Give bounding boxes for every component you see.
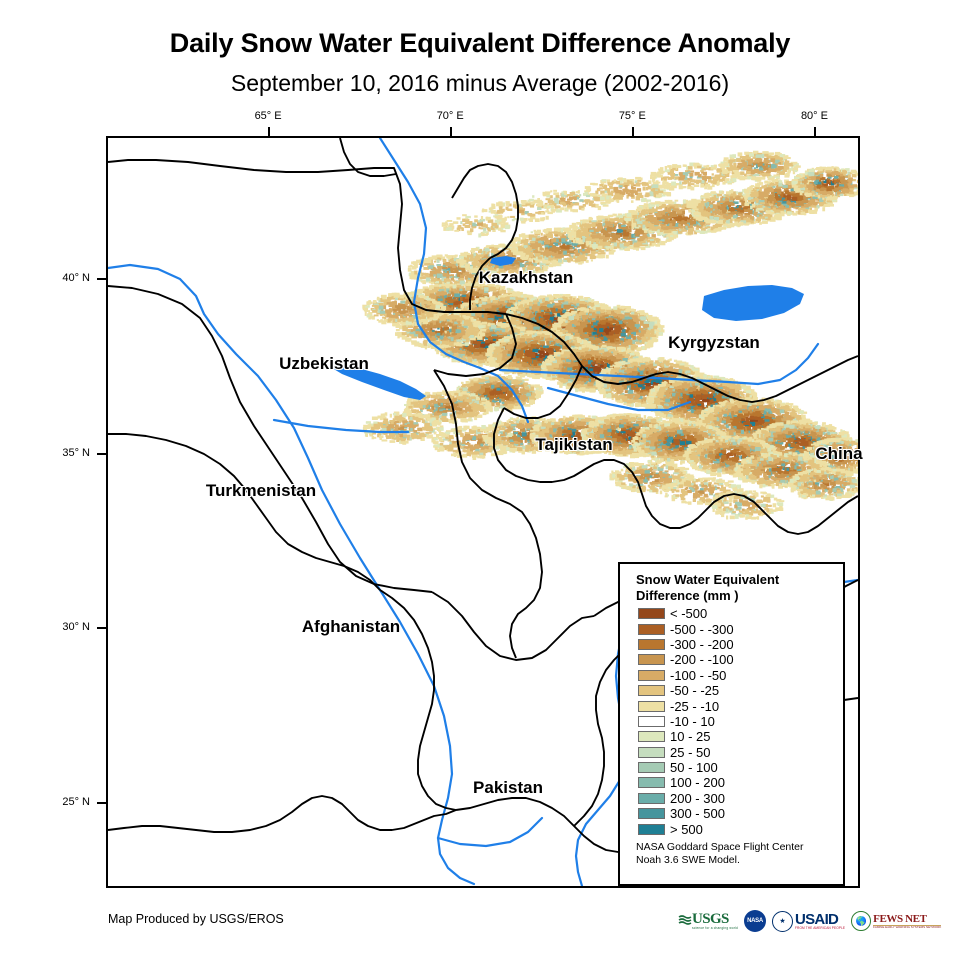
page-subtitle: September 10, 2016 minus Average (2002-2… xyxy=(0,70,960,97)
legend-label: 10 - 25 xyxy=(670,730,710,743)
legend-swatch xyxy=(638,762,665,773)
legend-item: 300 - 500 xyxy=(638,806,734,821)
legend-item: -10 - 10 xyxy=(638,714,734,729)
lat-tick-label: 30° N xyxy=(62,621,90,633)
legend-swatch xyxy=(638,608,665,619)
legend-item: 25 - 50 xyxy=(638,745,734,760)
legend-label: > 500 xyxy=(670,823,703,836)
legend-swatch xyxy=(638,777,665,788)
legend-swatch xyxy=(638,731,665,742)
fews-logo-tagline: FAMINE EARLY WARNING SYSTEMS NETWORK xyxy=(873,926,941,929)
country-label: Turkmenistan xyxy=(206,481,316,501)
usgs-logo-text: USGS xyxy=(692,912,738,927)
usgs-logo: USGS science for a changing world xyxy=(678,909,738,933)
legend-swatch xyxy=(638,624,665,635)
legend-item: 50 - 100 xyxy=(638,760,734,775)
legend-item: < -500 xyxy=(638,606,734,621)
legend-swatch xyxy=(638,793,665,804)
lat-tick-mark xyxy=(97,627,106,629)
nasa-meatball-icon: NASA xyxy=(744,910,766,932)
legend-source-note: NASA Goddard Space Flight CenterNoah 3.6… xyxy=(636,841,841,867)
country-label: Pakistan xyxy=(473,778,543,798)
fews-logo-text: FEWS NET xyxy=(873,914,941,926)
legend-item: 200 - 300 xyxy=(638,791,734,806)
legend-label: < -500 xyxy=(670,607,707,620)
legend-label: 100 - 200 xyxy=(670,776,725,789)
legend-label: -200 - -100 xyxy=(670,653,734,666)
legend-label: -500 - -300 xyxy=(670,623,734,636)
map-legend[interactable]: Snow Water EquivalentDifference (mm ) < … xyxy=(618,562,845,886)
swe-anomaly-raster xyxy=(362,151,858,520)
lon-tick-mark xyxy=(268,127,270,136)
legend-item: -50 - -25 xyxy=(638,683,734,698)
legend-item: 10 - 25 xyxy=(638,729,734,744)
legend-swatch xyxy=(638,716,665,727)
lon-tick-mark xyxy=(814,127,816,136)
usaid-logo: ★ USAID FROM THE AMERICAN PEOPLE xyxy=(772,909,845,933)
usgs-wave-icon xyxy=(678,914,692,927)
legend-swatch xyxy=(638,670,665,681)
legend-swatch xyxy=(638,824,665,835)
country-label: Tajikistan xyxy=(535,435,612,455)
usaid-logo-tagline: FROM THE AMERICAN PEOPLE xyxy=(795,927,845,930)
legend-swatch xyxy=(638,685,665,696)
lat-tick-mark xyxy=(97,453,106,455)
legend-item: -25 - -10 xyxy=(638,698,734,713)
lat-tick-label: 25° N xyxy=(62,796,90,808)
legend-label: -50 - -25 xyxy=(670,684,719,697)
lon-tick-label: 80° E xyxy=(801,110,828,122)
legend-label: -10 - 10 xyxy=(670,715,715,728)
country-label: Kazakhstan xyxy=(479,268,573,288)
legend-swatch xyxy=(638,747,665,758)
legend-item: -500 - -300 xyxy=(638,621,734,636)
fews-globe-icon: 🌎 xyxy=(851,911,871,931)
usaid-seal-icon: ★ xyxy=(772,911,793,932)
usaid-logo-text: USAID xyxy=(795,912,845,927)
legend-swatch xyxy=(638,808,665,819)
country-label: Kyrgyzstan xyxy=(668,333,760,353)
lat-tick-label: 40° N xyxy=(62,272,90,284)
fews-logo: 🌎 FEWS NET FAMINE EARLY WARNING SYSTEMS … xyxy=(851,909,941,933)
legend-swatch xyxy=(638,654,665,665)
country-label: Afghanistan xyxy=(302,617,400,637)
legend-label: 200 - 300 xyxy=(670,792,725,805)
legend-label: 50 - 100 xyxy=(670,761,718,774)
lat-tick-mark xyxy=(97,802,106,804)
legend-label: 25 - 50 xyxy=(670,746,710,759)
legend-item: -300 - -200 xyxy=(638,637,734,652)
usgs-logo-tagline: science for a changing world xyxy=(692,927,738,930)
lon-tick-label: 70° E xyxy=(437,110,464,122)
legend-title: Snow Water EquivalentDifference (mm ) xyxy=(636,572,836,604)
legend-swatch xyxy=(638,639,665,650)
legend-label: -100 - -50 xyxy=(670,669,726,682)
country-label: Uzbekistan xyxy=(279,354,369,374)
legend-label: -25 - -10 xyxy=(670,700,719,713)
legend-swatch xyxy=(638,701,665,712)
legend-label: -300 - -200 xyxy=(670,638,734,651)
lat-tick-mark xyxy=(97,278,106,280)
nasa-logo: NASA xyxy=(744,909,766,933)
lon-tick-mark xyxy=(450,127,452,136)
legend-item: 100 - 200 xyxy=(638,775,734,790)
map-credit: Map Produced by USGS/EROS xyxy=(108,912,284,926)
country-label: China xyxy=(815,444,862,464)
lat-tick-label: 35° N xyxy=(62,447,90,459)
nasa-logo-text: NASA xyxy=(747,918,763,924)
page-title: Daily Snow Water Equivalent Difference A… xyxy=(0,28,960,59)
lon-tick-label: 65° E xyxy=(255,110,282,122)
legend-item: > 500 xyxy=(638,821,734,836)
legend-label: 300 - 500 xyxy=(670,807,725,820)
legend-item: -200 - -100 xyxy=(638,652,734,667)
legend-item: -100 - -50 xyxy=(638,668,734,683)
legend-items: < -500-500 - -300-300 - -200-200 - -100-… xyxy=(638,606,734,837)
agency-logos: USGS science for a changing world NASA ★… xyxy=(678,908,941,934)
lon-tick-label: 75° E xyxy=(619,110,646,122)
lon-tick-mark xyxy=(632,127,634,136)
